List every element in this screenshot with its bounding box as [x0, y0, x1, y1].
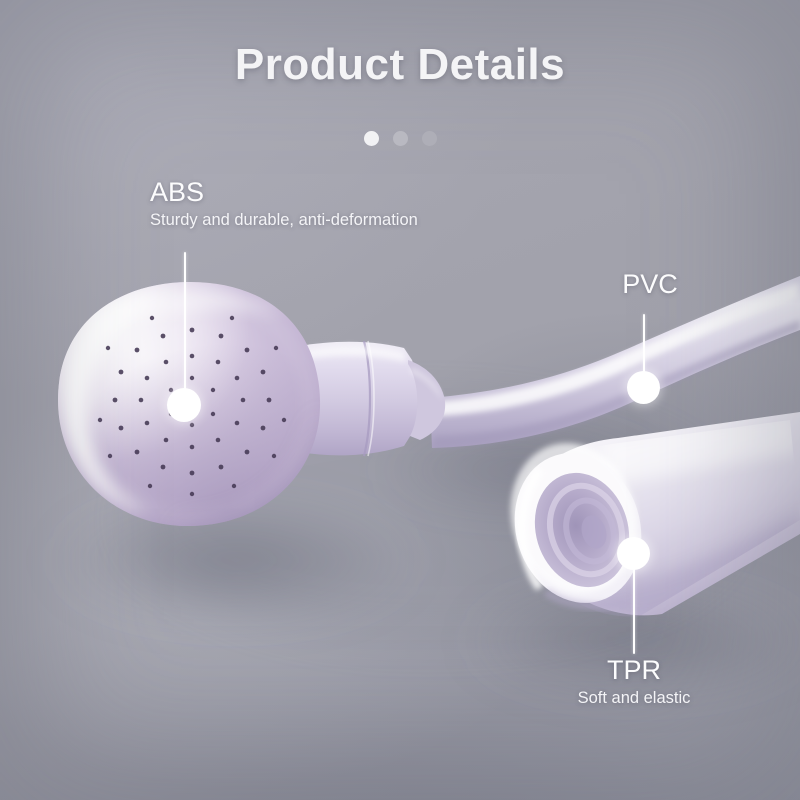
- marker-dot-abs: [167, 388, 201, 422]
- callout-tpr-title: TPR: [524, 656, 744, 684]
- page-title: Product Details: [0, 40, 800, 90]
- callout-pvc-title: PVC: [575, 270, 725, 298]
- callout-abs-subtitle: Sturdy and durable, anti-deformation: [150, 210, 418, 231]
- leader-line-tpr: [633, 556, 635, 654]
- product-detail-card: Product Details ABS Sturdy and durable, …: [0, 0, 800, 800]
- carousel-dots[interactable]: [0, 131, 800, 146]
- callout-abs: ABS Sturdy and durable, anti-deformation: [150, 178, 418, 231]
- leader-line-abs: [184, 252, 186, 402]
- callout-pvc: PVC: [575, 270, 725, 298]
- marker-dot-pvc: [627, 371, 660, 404]
- carousel-dot-1[interactable]: [364, 131, 379, 146]
- callout-abs-title: ABS: [150, 178, 418, 206]
- callout-tpr-subtitle: Soft and elastic: [524, 688, 744, 709]
- callout-tpr: TPR Soft and elastic: [524, 656, 744, 709]
- carousel-dot-2[interactable]: [393, 131, 408, 146]
- carousel-dot-3[interactable]: [422, 131, 437, 146]
